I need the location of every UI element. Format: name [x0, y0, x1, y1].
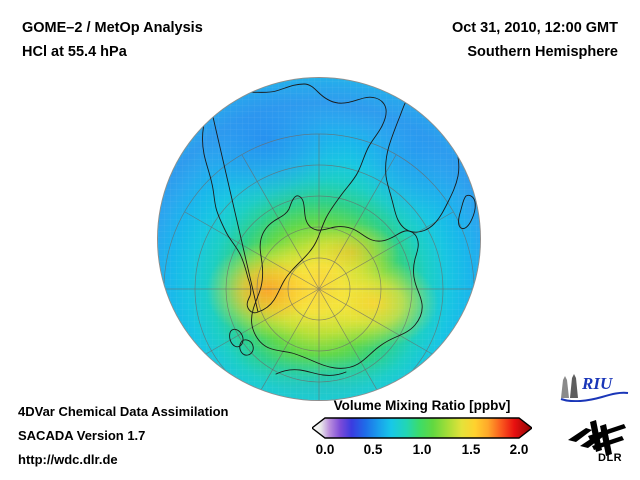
colorbar: Volume Mixing Ratio [ppbv] — [312, 398, 532, 462]
datetime-label: Oct 31, 2010, 12:00 GMT — [452, 20, 618, 36]
dlr-wordmark: DLR — [598, 452, 622, 464]
riu-logo: RIU — [558, 372, 630, 402]
colorbar-svg — [312, 417, 532, 439]
riu-towers-icon — [561, 374, 578, 398]
coastline-south-america — [203, 84, 387, 313]
colorbar-tick-0: 0.0 — [316, 442, 335, 457]
coastline-africa — [386, 93, 459, 232]
footer-url-link[interactable]: http://wdc.dlr.de — [18, 452, 118, 467]
orthographic-globe-plot — [158, 78, 480, 400]
colorbar-tick-2: 1.0 — [413, 442, 432, 457]
analysis-title: GOME–2 / MetOp Analysis — [22, 20, 203, 36]
coastline-australia — [276, 370, 346, 376]
globe-disc — [158, 78, 480, 400]
colorbar-tick-1: 0.5 — [364, 442, 383, 457]
footer-method-label: 4DVar Chemical Data Assimilation — [18, 404, 229, 419]
map-overlay — [158, 78, 480, 400]
colorbar-tick-3: 1.5 — [462, 442, 481, 457]
dlr-mark — [568, 420, 626, 456]
hemisphere-label: Southern Hemisphere — [467, 44, 618, 60]
graticule-meridians — [164, 134, 474, 400]
footer-version-label: SACADA Version 1.7 — [18, 428, 145, 443]
coastline-madagascar — [459, 195, 476, 228]
colorbar-tick-4: 2.0 — [510, 442, 529, 457]
colorbar-tick-labels: 0.0 0.5 1.0 1.5 2.0 — [312, 442, 532, 462]
coastline-antarctica — [252, 196, 423, 368]
colorbar-title: Volume Mixing Ratio [ppbv] — [312, 398, 532, 413]
species-level-label: HCl at 55.4 hPa — [22, 44, 127, 60]
colorbar-gradient — [312, 417, 532, 439]
riu-wordmark: RIU — [581, 374, 613, 393]
coastline-paths — [203, 84, 476, 375]
